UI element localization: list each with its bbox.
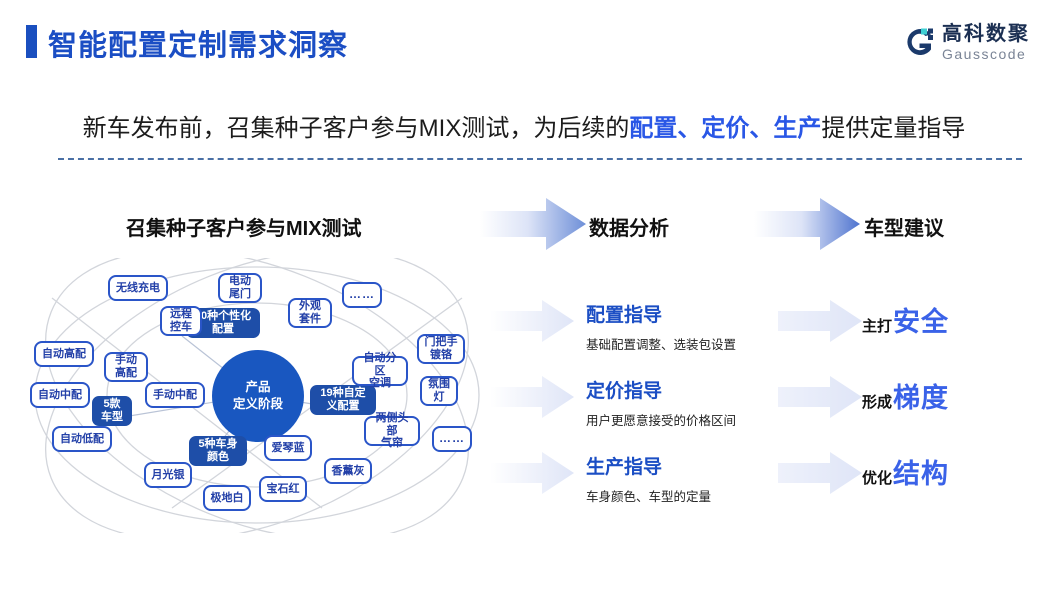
mindmap-leaf-manual-mid: 手动中配 xyxy=(145,382,205,408)
mindmap-leaf-dual-zone-ac: 自动分区 空调 xyxy=(352,356,408,386)
analysis-item-pricing: 定价指导 用户更愿意接受的价格区间 xyxy=(586,376,736,429)
row-arrow-left-1-icon xyxy=(490,300,574,342)
title-accent-bar xyxy=(26,25,37,58)
mindmap-leaf-ellipsis-right: …… xyxy=(432,426,472,452)
logo-en-text: Gausscode xyxy=(942,47,1030,61)
row-arrow-right-3-icon xyxy=(778,452,862,494)
analysis-item-config: 配置指导 基础配置调整、选装包设置 xyxy=(586,300,736,353)
analysis-title-production: 生产指导 xyxy=(586,452,711,479)
suggestion-prefix-tier: 形成 xyxy=(862,391,892,412)
flow-arrow-2-icon xyxy=(754,198,860,250)
mindmap-leaf-moonlight-silver: 月光银 xyxy=(144,462,192,488)
suggestion-item-safety: 主打 安全 xyxy=(862,300,949,339)
slide: 智能配置定制需求洞察 高科数聚 Gausscode 新车发布前，召集种子客户参与… xyxy=(0,0,1048,589)
mindmap-leaf-auto-high: 自动高配 xyxy=(34,341,94,367)
mindmap-leaf-auto-low: 自动低配 xyxy=(52,426,112,452)
suggestion-prefix-safety: 主打 xyxy=(862,315,892,336)
section-divider xyxy=(58,158,1022,160)
column-heading-suggestion: 车型建议 xyxy=(864,212,944,241)
analysis-desc-config: 基础配置调整、选装包设置 xyxy=(586,334,736,353)
mindmap-leaf-lavender-grey: 香薰灰 xyxy=(324,458,372,484)
mindmap-leaf-chrome-door-handle: 门把手 镀铬 xyxy=(417,334,465,364)
subtitle-part2: 提供定量指导 xyxy=(821,115,965,142)
suggestion-prefix-structure: 优化 xyxy=(862,467,892,488)
subtitle: 新车发布前，召集种子客户参与MIX测试，为后续的配置、定价、生产提供定量指导 xyxy=(0,108,1048,143)
analysis-title-pricing: 定价指导 xyxy=(586,376,736,403)
suggestion-keyword-safety: 安全 xyxy=(893,300,949,339)
subtitle-highlight: 配置、定价、生产 xyxy=(629,115,821,142)
mindmap-leaf-ellipsis-top: …… xyxy=(342,282,382,308)
row-arrow-left-2-icon xyxy=(490,376,574,418)
analysis-title-config: 配置指导 xyxy=(586,300,736,327)
mindmap-leaf-power-tailgate: 电动 尾门 xyxy=(218,273,262,303)
mindmap-leaf-aegean-blue: 爱琴蓝 xyxy=(264,435,312,461)
mindmap-branch-models: 5款 车型 xyxy=(92,396,132,426)
flow-arrow-1-icon xyxy=(480,198,586,250)
page-title: 智能配置定制需求洞察 xyxy=(48,22,348,64)
mindmap-leaf-ruby-red: 宝石红 xyxy=(259,476,307,502)
mindmap-core: 产品 定义阶段 xyxy=(212,350,304,442)
brand-logo: 高科数聚 Gausscode xyxy=(901,18,1030,66)
mindmap-leaf-appearance-kit: 外观 套件 xyxy=(288,298,332,328)
row-arrow-right-2-icon xyxy=(778,376,862,418)
mindmap-leaf-manual-high: 手动 高配 xyxy=(104,352,148,382)
mindmap-leaf-wireless-charging: 无线充电 xyxy=(108,275,168,301)
mindmap-leaf-remote-control: 远程 控车 xyxy=(160,306,202,336)
suggestion-item-structure: 优化 结构 xyxy=(862,452,949,491)
subtitle-part1: 新车发布前，召集种子客户参与MIX测试，为后续的 xyxy=(83,115,630,142)
mindmap-leaf-side-head-airbag: 两侧头部 气帘 xyxy=(364,416,420,446)
mindmap-leaf-ambient-light: 氛围 灯 xyxy=(420,376,458,406)
gausscode-g-logo-icon xyxy=(901,25,935,59)
suggestion-keyword-tier: 梯度 xyxy=(893,376,949,415)
row-arrow-left-3-icon xyxy=(490,452,574,494)
mindmap-branch-colors: 5种车身 颜色 xyxy=(189,436,247,466)
mindmap-diagram: 产品 定义阶段 10种个性化 配置 19种自定 义配置 5种车身 颜色 5款 车… xyxy=(22,258,492,533)
analysis-desc-pricing: 用户更愿意接受的价格区间 xyxy=(586,410,736,429)
analysis-item-production: 生产指导 车身颜色、车型的定量 xyxy=(586,452,711,505)
row-arrow-right-1-icon xyxy=(778,300,862,342)
mindmap-leaf-auto-mid: 自动中配 xyxy=(30,382,90,408)
mindmap-leaf-polar-white: 极地白 xyxy=(203,485,251,511)
analysis-desc-production: 车身颜色、车型的定量 xyxy=(586,486,711,505)
suggestion-keyword-structure: 结构 xyxy=(893,452,949,491)
suggestion-item-tier: 形成 梯度 xyxy=(862,376,949,415)
column-heading-collect: 召集种子客户参与MIX测试 xyxy=(126,212,362,241)
column-heading-analysis: 数据分析 xyxy=(589,212,669,241)
logo-cn-text: 高科数聚 xyxy=(942,24,1030,44)
